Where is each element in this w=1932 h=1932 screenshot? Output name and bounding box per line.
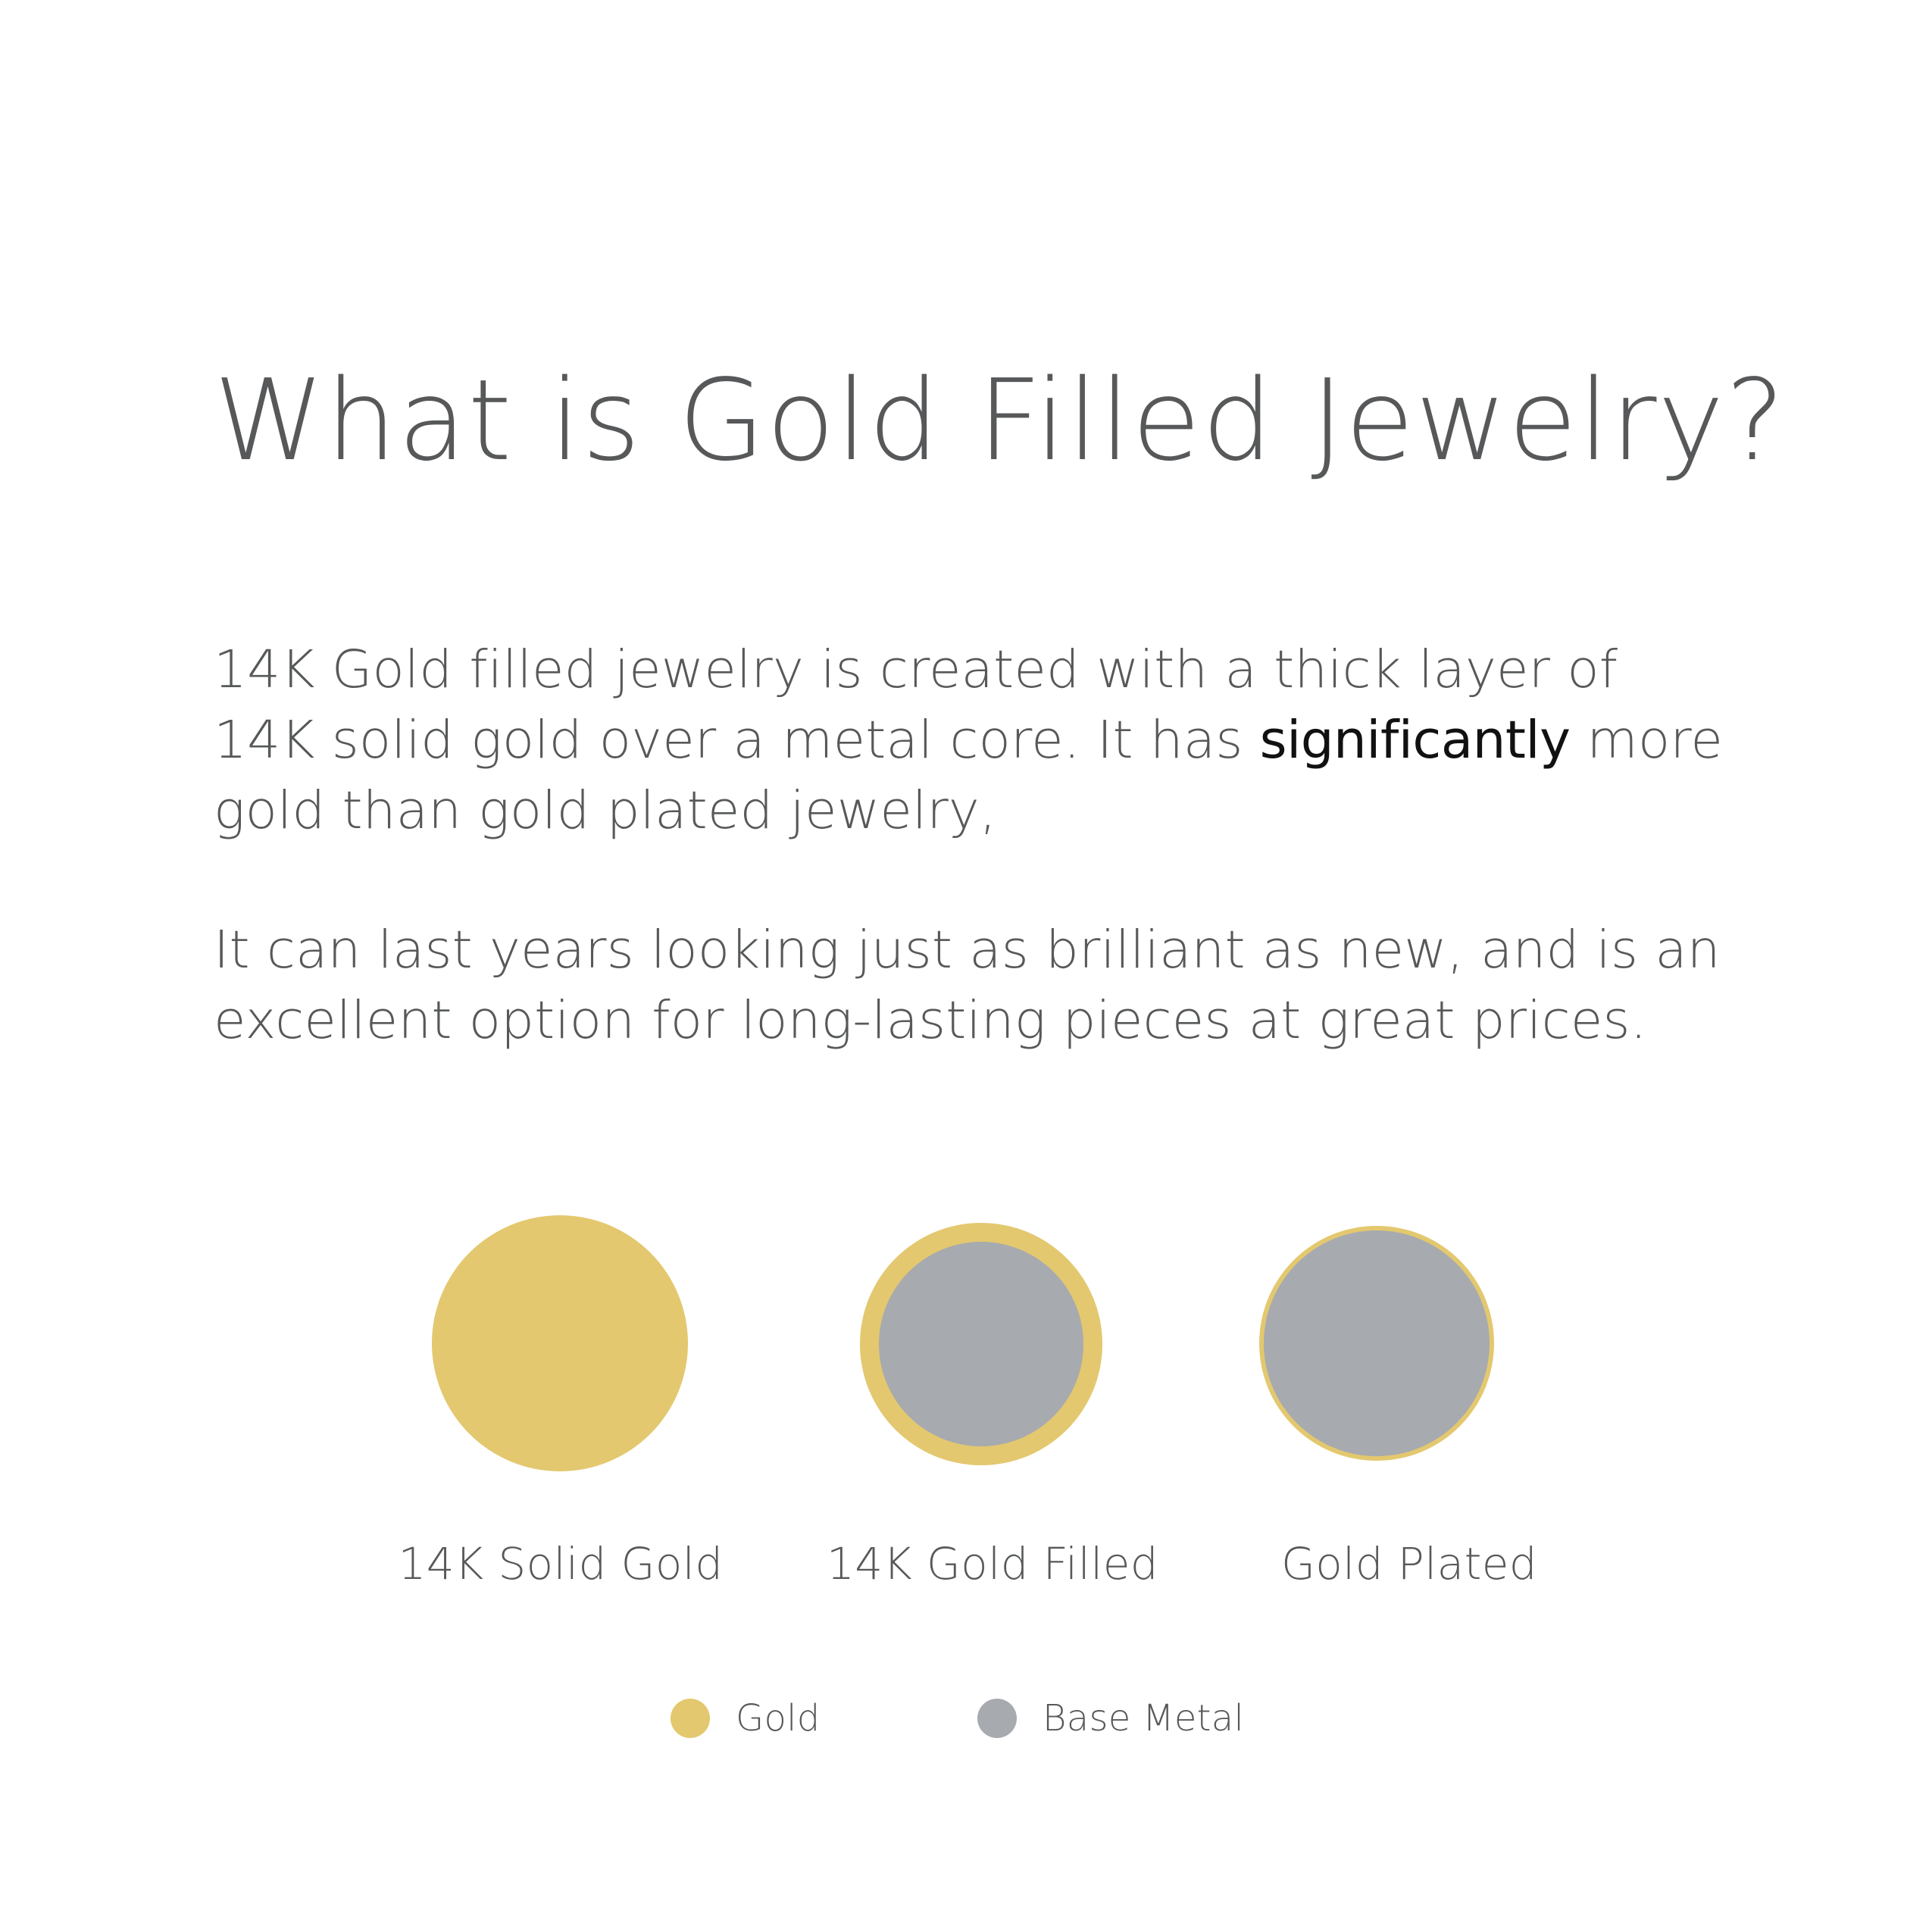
paragraph-two-line-1: It can last years looking just as brilli… (214, 915, 1774, 986)
comparison-diagram (0, 1212, 1932, 1485)
paragraph-two: It can last years looking just as brilli… (214, 915, 1774, 1056)
paragraph-one-line-3: gold than gold plated jewelry, (214, 776, 1774, 846)
diagram-circle-gold-plated (1259, 1212, 1517, 1470)
paragraph-one-line-2-prefix: 14K solid gold over a metal core. It has (214, 710, 1260, 771)
legend-label-gold: Gold (736, 1697, 821, 1740)
legend-label-base-metal: Base Metal (1043, 1697, 1244, 1740)
legend-swatch-gold-icon (671, 1699, 710, 1738)
paragraph-one-line-2-suffix: more (1570, 710, 1723, 771)
legend-swatch-base-metal-icon (977, 1699, 1017, 1738)
solid-gold-disc (432, 1215, 688, 1471)
gold-plated-base-metal-core (1264, 1230, 1490, 1456)
diagram-captions: 14K Solid Gold 14K Gold Filled Gold Plat… (0, 1538, 1932, 1606)
diagram-circle-solid-gold (432, 1212, 689, 1470)
caption-gold-filled: 14K Gold Filled (773, 1538, 1212, 1590)
infographic-canvas: What is Gold Filled Jewelry? 14K Gold fi… (0, 0, 1932, 1932)
caption-solid-gold: 14K Solid Gold (341, 1538, 780, 1590)
legend-item-gold: Gold (671, 1688, 821, 1749)
paragraph-one: 14K Gold filled jewelry is created with … (214, 635, 1774, 846)
paragraph-one-emphasis: significantly (1260, 710, 1571, 771)
diagram-circle-gold-filled (860, 1212, 1118, 1470)
caption-gold-plated: Gold Plated (1190, 1538, 1629, 1590)
paragraph-two-line-2: excellent option for long-lasting pieces… (214, 986, 1774, 1056)
gold-filled-base-metal-core (879, 1242, 1083, 1446)
paragraph-one-line-2: 14K solid gold over a metal core. It has… (214, 705, 1774, 776)
paragraph-one-line-1: 14K Gold filled jewelry is created with … (214, 635, 1774, 705)
page-title: What is Gold Filled Jewelry? (214, 356, 1767, 485)
legend-item-base-metal: Base Metal (977, 1688, 1244, 1749)
diagram-legend: Gold Base Metal (0, 1688, 1932, 1756)
